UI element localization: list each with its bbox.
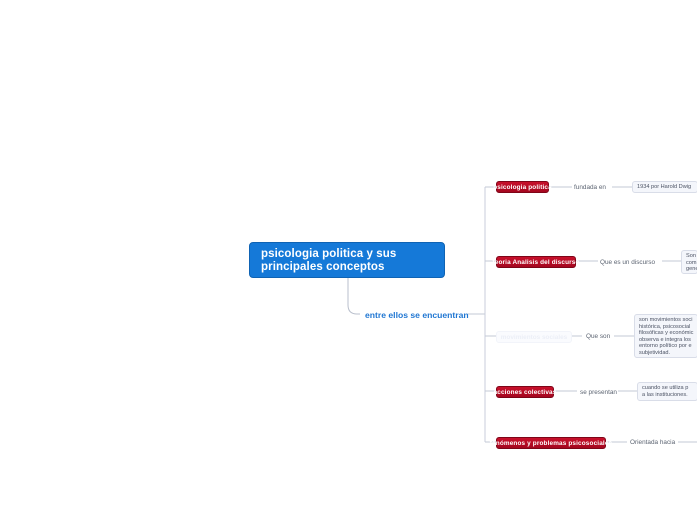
relation-label-que-es-un-discurso: Que es un discurso: [600, 259, 655, 266]
root-node-line1: psicologia politica y sus: [261, 248, 396, 260]
relation-label-se-presentan: se presentan: [580, 389, 617, 396]
mindmap-canvas[interactable]: psicologia politica y sus principales co…: [0, 0, 697, 520]
relation-label-que-son: Que son: [586, 333, 610, 340]
root-node[interactable]: psicologia politica y sus principales co…: [249, 242, 445, 278]
branch-node-teoria-analisis-discurso[interactable]: teoria Analisis del discurso: [496, 256, 576, 268]
root-edge-label: entre ellos se encuentran: [365, 310, 469, 320]
leaf-line: gene: [686, 266, 693, 273]
branch-node-psicologia-politica[interactable]: psicologia politica: [496, 181, 549, 193]
branch-node-movimientos-sociales[interactable]: movimientos sociales: [496, 331, 572, 343]
map-background: [249, 170, 697, 465]
leaf-line: observa e integra los: [639, 337, 693, 344]
leaf-line: comp: [686, 260, 693, 267]
branch-node-acciones-colectivas[interactable]: acciones colectivas: [496, 386, 554, 398]
leaf-line: cuando se utiliza p: [642, 385, 693, 392]
leaf-node-se-presentan[interactable]: cuando se utiliza p a las instituciones.: [637, 382, 697, 401]
leaf-node-fundada-en[interactable]: 1934 por Harold Dwig: [632, 181, 697, 193]
leaf-line: Son: [686, 253, 693, 260]
leaf-line: filosóficas y económic: [639, 330, 693, 337]
leaf-line: entorno político por e: [639, 343, 693, 350]
leaf-line: subjetividad.: [639, 350, 693, 357]
leaf-line: a las instituciones.: [642, 392, 693, 399]
branch-node-fenomenos-problemas-psicosociales[interactable]: fenómenos y problemas psicosociales: [496, 437, 606, 449]
leaf-line: 1934 por Harold Dwig: [637, 184, 693, 191]
root-node-line2: principales conceptos: [261, 261, 444, 274]
leaf-line: histórica, psicosocial: [639, 324, 693, 331]
leaf-line: son movimientos soci: [639, 317, 693, 324]
relation-label-fundada-en: fundada en: [574, 184, 606, 191]
leaf-node-que-son[interactable]: son movimientos soci histórica, psicosoc…: [634, 314, 697, 358]
leaf-node-que-es-un-discurso[interactable]: Son comp gene: [681, 250, 697, 274]
relation-label-orientada-hacia: Orientada hacia: [630, 439, 675, 446]
